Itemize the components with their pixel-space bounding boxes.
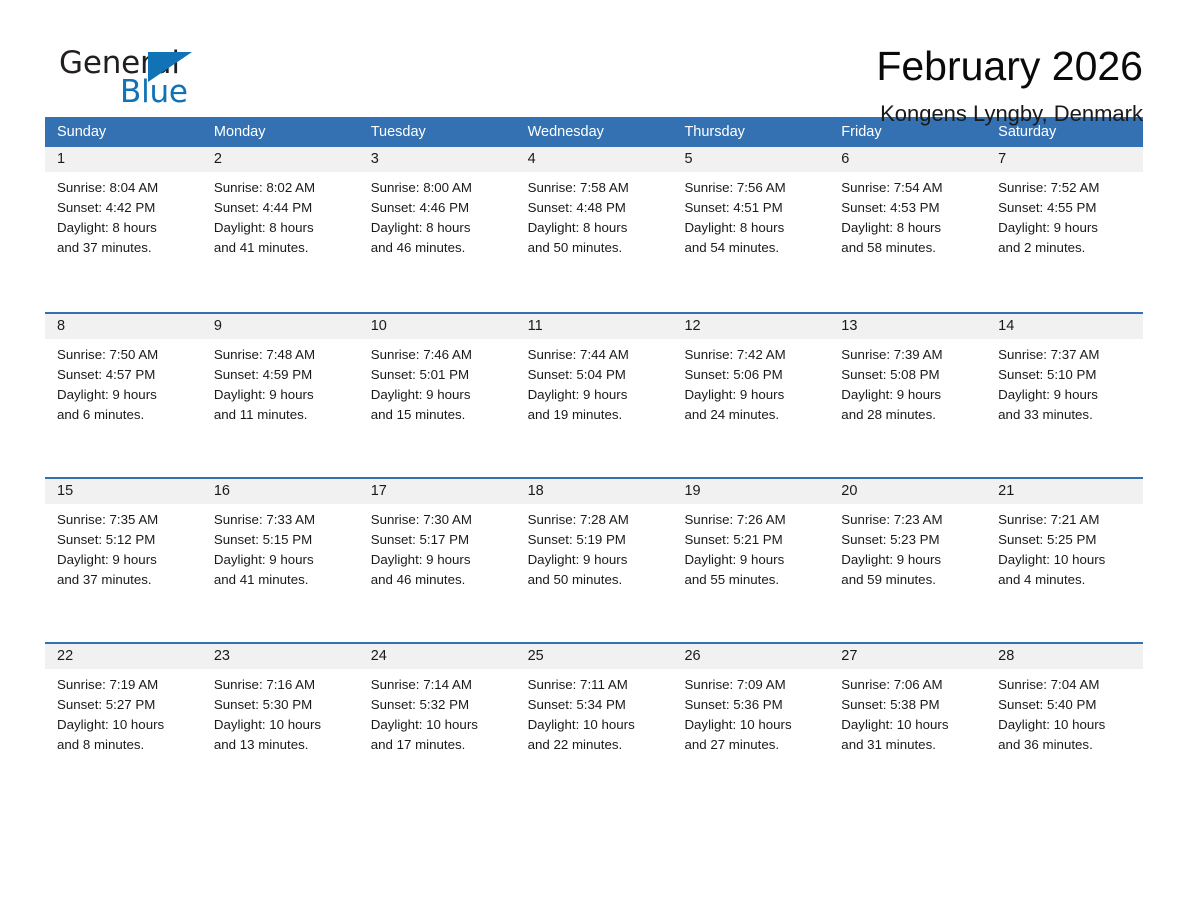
sunrise-text: Sunrise: 7:37 AM	[998, 345, 1135, 365]
daylight-text-line1: Daylight: 10 hours	[684, 715, 821, 735]
daylight-text-line2: and 50 minutes.	[528, 570, 665, 590]
day-number: 23	[202, 644, 359, 669]
calendar-week-row: 8 Sunrise: 7:50 AM Sunset: 4:57 PM Dayli…	[45, 312, 1143, 477]
calendar-day-cell[interactable]: 24 Sunrise: 7:14 AM Sunset: 5:32 PM Dayl…	[359, 644, 516, 807]
day-number-band: 14	[986, 314, 1143, 339]
sunrise-text: Sunrise: 7:26 AM	[684, 510, 821, 530]
calendar-week-row: 15 Sunrise: 7:35 AM Sunset: 5:12 PM Dayl…	[45, 477, 1143, 642]
calendar-day-cell[interactable]: 5 Sunrise: 7:56 AM Sunset: 4:51 PM Dayli…	[672, 147, 829, 312]
sunset-text: Sunset: 5:30 PM	[214, 695, 351, 715]
calendar-day-cell[interactable]: 14 Sunrise: 7:37 AM Sunset: 5:10 PM Dayl…	[986, 314, 1143, 477]
sunset-text: Sunset: 4:42 PM	[57, 198, 194, 218]
daylight-text-line2: and 15 minutes.	[371, 405, 508, 425]
sunrise-text: Sunrise: 7:52 AM	[998, 178, 1135, 198]
calendar-day-cell[interactable]: 2 Sunrise: 8:02 AM Sunset: 4:44 PM Dayli…	[202, 147, 359, 312]
sunrise-text: Sunrise: 7:44 AM	[528, 345, 665, 365]
day-number: 9	[202, 314, 359, 339]
daylight-text-line1: Daylight: 8 hours	[371, 218, 508, 238]
daylight-text-line1: Daylight: 8 hours	[684, 218, 821, 238]
day-details: Sunrise: 7:44 AM Sunset: 5:04 PM Dayligh…	[516, 339, 673, 425]
daylight-text-line2: and 37 minutes.	[57, 570, 194, 590]
day-number-band: 17	[359, 479, 516, 504]
daylight-text-line2: and 59 minutes.	[841, 570, 978, 590]
sunset-text: Sunset: 5:27 PM	[57, 695, 194, 715]
daylight-text-line1: Daylight: 9 hours	[57, 385, 194, 405]
day-number: 17	[359, 479, 516, 504]
day-number: 11	[516, 314, 673, 339]
day-number: 20	[829, 479, 986, 504]
day-details: Sunrise: 7:23 AM Sunset: 5:23 PM Dayligh…	[829, 504, 986, 590]
daylight-text-line1: Daylight: 8 hours	[841, 218, 978, 238]
generalblue-logo[interactable]: General Blue	[45, 42, 235, 114]
sunset-text: Sunset: 5:34 PM	[528, 695, 665, 715]
day-details: Sunrise: 8:00 AM Sunset: 4:46 PM Dayligh…	[359, 172, 516, 258]
daylight-text-line1: Daylight: 10 hours	[214, 715, 351, 735]
sunset-text: Sunset: 5:12 PM	[57, 530, 194, 550]
day-number: 25	[516, 644, 673, 669]
daylight-text-line2: and 4 minutes.	[998, 570, 1135, 590]
day-number-band: 26	[672, 644, 829, 669]
daylight-text-line2: and 28 minutes.	[841, 405, 978, 425]
day-number: 4	[516, 147, 673, 172]
day-number-band: 27	[829, 644, 986, 669]
day-details: Sunrise: 7:58 AM Sunset: 4:48 PM Dayligh…	[516, 172, 673, 258]
day-number: 27	[829, 644, 986, 669]
day-details: Sunrise: 7:30 AM Sunset: 5:17 PM Dayligh…	[359, 504, 516, 590]
daylight-text-line1: Daylight: 9 hours	[528, 550, 665, 570]
sunrise-text: Sunrise: 7:54 AM	[841, 178, 978, 198]
sunrise-text: Sunrise: 7:58 AM	[528, 178, 665, 198]
day-number-band: 7	[986, 147, 1143, 172]
sunset-text: Sunset: 4:48 PM	[528, 198, 665, 218]
sunrise-text: Sunrise: 7:30 AM	[371, 510, 508, 530]
day-details: Sunrise: 7:35 AM Sunset: 5:12 PM Dayligh…	[45, 504, 202, 590]
daylight-text-line2: and 36 minutes.	[998, 735, 1135, 755]
daylight-text-line1: Daylight: 9 hours	[57, 550, 194, 570]
day-number-band: 15	[45, 479, 202, 504]
daylight-text-line2: and 13 minutes.	[214, 735, 351, 755]
daylight-text-line1: Daylight: 10 hours	[371, 715, 508, 735]
calendar-day-cell[interactable]: 20 Sunrise: 7:23 AM Sunset: 5:23 PM Dayl…	[829, 479, 986, 642]
sunrise-text: Sunrise: 7:19 AM	[57, 675, 194, 695]
daylight-text-line1: Daylight: 8 hours	[528, 218, 665, 238]
calendar-day-cell[interactable]: 22 Sunrise: 7:19 AM Sunset: 5:27 PM Dayl…	[45, 644, 202, 807]
day-number: 2	[202, 147, 359, 172]
sunset-text: Sunset: 5:10 PM	[998, 365, 1135, 385]
weekday-header-friday: Friday	[829, 117, 986, 147]
calendar-day-cell[interactable]: 11 Sunrise: 7:44 AM Sunset: 5:04 PM Dayl…	[516, 314, 673, 477]
calendar-day-cell[interactable]: 25 Sunrise: 7:11 AM Sunset: 5:34 PM Dayl…	[516, 644, 673, 807]
day-number-band: 21	[986, 479, 1143, 504]
sunrise-text: Sunrise: 7:35 AM	[57, 510, 194, 530]
day-number-band: 5	[672, 147, 829, 172]
day-details: Sunrise: 7:26 AM Sunset: 5:21 PM Dayligh…	[672, 504, 829, 590]
calendar-day-cell[interactable]: 18 Sunrise: 7:28 AM Sunset: 5:19 PM Dayl…	[516, 479, 673, 642]
daylight-text-line1: Daylight: 8 hours	[57, 218, 194, 238]
day-number-band: 10	[359, 314, 516, 339]
sunrise-text: Sunrise: 7:16 AM	[214, 675, 351, 695]
day-number-band: 13	[829, 314, 986, 339]
daylight-text-line2: and 41 minutes.	[214, 238, 351, 258]
sunrise-text: Sunrise: 7:06 AM	[841, 675, 978, 695]
sunrise-text: Sunrise: 7:46 AM	[371, 345, 508, 365]
day-details: Sunrise: 7:16 AM Sunset: 5:30 PM Dayligh…	[202, 669, 359, 755]
daylight-text-line2: and 55 minutes.	[684, 570, 821, 590]
calendar-day-cell[interactable]: 19 Sunrise: 7:26 AM Sunset: 5:21 PM Dayl…	[672, 479, 829, 642]
day-number-band: 2	[202, 147, 359, 172]
daylight-text-line2: and 46 minutes.	[371, 238, 508, 258]
day-number: 24	[359, 644, 516, 669]
day-number-band: 28	[986, 644, 1143, 669]
weekday-header-wednesday: Wednesday	[516, 117, 673, 147]
sunrise-text: Sunrise: 8:00 AM	[371, 178, 508, 198]
day-number-band: 12	[672, 314, 829, 339]
day-number-band: 9	[202, 314, 359, 339]
daylight-text-line1: Daylight: 9 hours	[841, 550, 978, 570]
day-number: 3	[359, 147, 516, 172]
daylight-text-line2: and 46 minutes.	[371, 570, 508, 590]
day-number-band: 18	[516, 479, 673, 504]
day-number: 15	[45, 479, 202, 504]
day-details: Sunrise: 7:46 AM Sunset: 5:01 PM Dayligh…	[359, 339, 516, 425]
sunrise-text: Sunrise: 7:23 AM	[841, 510, 978, 530]
sunrise-text: Sunrise: 7:21 AM	[998, 510, 1135, 530]
calendar-day-cell[interactable]: 26 Sunrise: 7:09 AM Sunset: 5:36 PM Dayl…	[672, 644, 829, 807]
calendar-day-cell[interactable]: 1 Sunrise: 8:04 AM Sunset: 4:42 PM Dayli…	[45, 147, 202, 312]
daylight-text-line2: and 22 minutes.	[528, 735, 665, 755]
sunrise-text: Sunrise: 8:04 AM	[57, 178, 194, 198]
day-details: Sunrise: 7:04 AM Sunset: 5:40 PM Dayligh…	[986, 669, 1143, 755]
day-number-band: 23	[202, 644, 359, 669]
sunset-text: Sunset: 4:59 PM	[214, 365, 351, 385]
daylight-text-line1: Daylight: 9 hours	[684, 550, 821, 570]
calendar-page: General Blue February 2026 Kongens Lyngb…	[0, 0, 1188, 918]
day-number-band: 3	[359, 147, 516, 172]
daylight-text-line1: Daylight: 10 hours	[528, 715, 665, 735]
day-details: Sunrise: 7:21 AM Sunset: 5:25 PM Dayligh…	[986, 504, 1143, 590]
calendar-day-cell[interactable]: 9 Sunrise: 7:48 AM Sunset: 4:59 PM Dayli…	[202, 314, 359, 477]
day-details: Sunrise: 8:02 AM Sunset: 4:44 PM Dayligh…	[202, 172, 359, 258]
daylight-text-line1: Daylight: 8 hours	[214, 218, 351, 238]
day-number-band: 11	[516, 314, 673, 339]
calendar-day-cell[interactable]: 28 Sunrise: 7:04 AM Sunset: 5:40 PM Dayl…	[986, 644, 1143, 807]
weekday-header-saturday: Saturday	[986, 117, 1143, 147]
sunset-text: Sunset: 5:40 PM	[998, 695, 1135, 715]
sunset-text: Sunset: 5:19 PM	[528, 530, 665, 550]
sunset-text: Sunset: 5:32 PM	[371, 695, 508, 715]
day-number-band: 24	[359, 644, 516, 669]
sunset-text: Sunset: 5:25 PM	[998, 530, 1135, 550]
calendar-day-cell[interactable]: 16 Sunrise: 7:33 AM Sunset: 5:15 PM Dayl…	[202, 479, 359, 642]
daylight-text-line1: Daylight: 10 hours	[841, 715, 978, 735]
sunset-text: Sunset: 5:01 PM	[371, 365, 508, 385]
daylight-text-line1: Daylight: 9 hours	[841, 385, 978, 405]
daylight-text-line1: Daylight: 9 hours	[214, 385, 351, 405]
daylight-text-line2: and 11 minutes.	[214, 405, 351, 425]
day-details: Sunrise: 7:09 AM Sunset: 5:36 PM Dayligh…	[672, 669, 829, 755]
day-details: Sunrise: 7:33 AM Sunset: 5:15 PM Dayligh…	[202, 504, 359, 590]
sunset-text: Sunset: 5:23 PM	[841, 530, 978, 550]
day-number-band: 16	[202, 479, 359, 504]
day-details: Sunrise: 7:50 AM Sunset: 4:57 PM Dayligh…	[45, 339, 202, 425]
day-number-band: 22	[45, 644, 202, 669]
weekday-header-thursday: Thursday	[672, 117, 829, 147]
sunset-text: Sunset: 5:21 PM	[684, 530, 821, 550]
weekday-header-sunday: Sunday	[45, 117, 202, 147]
daylight-text-line1: Daylight: 9 hours	[528, 385, 665, 405]
calendar-day-cell[interactable]: 4 Sunrise: 7:58 AM Sunset: 4:48 PM Dayli…	[516, 147, 673, 312]
daylight-text-line1: Daylight: 9 hours	[998, 218, 1135, 238]
sunrise-text: Sunrise: 7:39 AM	[841, 345, 978, 365]
day-number: 1	[45, 147, 202, 172]
sunset-text: Sunset: 4:57 PM	[57, 365, 194, 385]
sunset-text: Sunset: 4:51 PM	[684, 198, 821, 218]
sunset-text: Sunset: 4:55 PM	[998, 198, 1135, 218]
sunrise-text: Sunrise: 7:11 AM	[528, 675, 665, 695]
title-block: February 2026 Kongens Lyngby, Denmark	[235, 42, 1143, 128]
sunrise-text: Sunrise: 7:56 AM	[684, 178, 821, 198]
logo-text-blue: Blue	[120, 75, 188, 109]
day-details: Sunrise: 7:28 AM Sunset: 5:19 PM Dayligh…	[516, 504, 673, 590]
daylight-text-line2: and 27 minutes.	[684, 735, 821, 755]
calendar-day-cell[interactable]: 10 Sunrise: 7:46 AM Sunset: 5:01 PM Dayl…	[359, 314, 516, 477]
sunset-text: Sunset: 4:53 PM	[841, 198, 978, 218]
day-number: 26	[672, 644, 829, 669]
day-number-band: 6	[829, 147, 986, 172]
calendar-day-cell[interactable]: 12 Sunrise: 7:42 AM Sunset: 5:06 PM Dayl…	[672, 314, 829, 477]
daylight-text-line1: Daylight: 10 hours	[998, 550, 1135, 570]
day-number: 12	[672, 314, 829, 339]
sunrise-text: Sunrise: 7:48 AM	[214, 345, 351, 365]
day-details: Sunrise: 7:19 AM Sunset: 5:27 PM Dayligh…	[45, 669, 202, 755]
page-header: General Blue February 2026 Kongens Lyngb…	[45, 0, 1143, 104]
calendar-week-row: 1 Sunrise: 8:04 AM Sunset: 4:42 PM Dayli…	[45, 147, 1143, 312]
calendar-day-cell[interactable]: 15 Sunrise: 7:35 AM Sunset: 5:12 PM Dayl…	[45, 479, 202, 642]
day-number: 16	[202, 479, 359, 504]
calendar-day-cell[interactable]: 27 Sunrise: 7:06 AM Sunset: 5:38 PM Dayl…	[829, 644, 986, 807]
day-number-band: 19	[672, 479, 829, 504]
daylight-text-line1: Daylight: 9 hours	[998, 385, 1135, 405]
calendar-day-cell[interactable]: 6 Sunrise: 7:54 AM Sunset: 4:53 PM Dayli…	[829, 147, 986, 312]
sunrise-text: Sunrise: 7:28 AM	[528, 510, 665, 530]
day-number: 10	[359, 314, 516, 339]
daylight-text-line2: and 41 minutes.	[214, 570, 351, 590]
day-details: Sunrise: 7:52 AM Sunset: 4:55 PM Dayligh…	[986, 172, 1143, 258]
calendar-day-cell[interactable]: 17 Sunrise: 7:30 AM Sunset: 5:17 PM Dayl…	[359, 479, 516, 642]
sunset-text: Sunset: 5:38 PM	[841, 695, 978, 715]
sunset-text: Sunset: 5:36 PM	[684, 695, 821, 715]
sunrise-text: Sunrise: 7:42 AM	[684, 345, 821, 365]
sunset-text: Sunset: 4:46 PM	[371, 198, 508, 218]
calendar-day-cell[interactable]: 7 Sunrise: 7:52 AM Sunset: 4:55 PM Dayli…	[986, 147, 1143, 312]
daylight-text-line2: and 24 minutes.	[684, 405, 821, 425]
daylight-text-line1: Daylight: 9 hours	[214, 550, 351, 570]
day-number: 22	[45, 644, 202, 669]
day-details: Sunrise: 7:11 AM Sunset: 5:34 PM Dayligh…	[516, 669, 673, 755]
day-details: Sunrise: 7:54 AM Sunset: 4:53 PM Dayligh…	[829, 172, 986, 258]
day-details: Sunrise: 7:48 AM Sunset: 4:59 PM Dayligh…	[202, 339, 359, 425]
day-number: 28	[986, 644, 1143, 669]
day-details: Sunrise: 7:06 AM Sunset: 5:38 PM Dayligh…	[829, 669, 986, 755]
daylight-text-line2: and 37 minutes.	[57, 238, 194, 258]
daylight-text-line2: and 33 minutes.	[998, 405, 1135, 425]
sunset-text: Sunset: 5:17 PM	[371, 530, 508, 550]
daylight-text-line2: and 50 minutes.	[528, 238, 665, 258]
day-details: Sunrise: 7:14 AM Sunset: 5:32 PM Dayligh…	[359, 669, 516, 755]
day-details: Sunrise: 7:42 AM Sunset: 5:06 PM Dayligh…	[672, 339, 829, 425]
sunrise-text: Sunrise: 7:14 AM	[371, 675, 508, 695]
weekday-header-tuesday: Tuesday	[359, 117, 516, 147]
daylight-text-line2: and 17 minutes.	[371, 735, 508, 755]
day-number-band: 1	[45, 147, 202, 172]
calendar-day-cell[interactable]: 21 Sunrise: 7:21 AM Sunset: 5:25 PM Dayl…	[986, 479, 1143, 642]
sunrise-text: Sunrise: 7:09 AM	[684, 675, 821, 695]
sunrise-text: Sunrise: 8:02 AM	[214, 178, 351, 198]
day-number: 7	[986, 147, 1143, 172]
sunset-text: Sunset: 5:06 PM	[684, 365, 821, 385]
day-number: 13	[829, 314, 986, 339]
day-details: Sunrise: 7:39 AM Sunset: 5:08 PM Dayligh…	[829, 339, 986, 425]
day-number: 21	[986, 479, 1143, 504]
sunrise-text: Sunrise: 7:50 AM	[57, 345, 194, 365]
page-title: February 2026	[235, 42, 1143, 90]
daylight-text-line1: Daylight: 10 hours	[998, 715, 1135, 735]
daylight-text-line1: Daylight: 10 hours	[57, 715, 194, 735]
calendar-day-cell[interactable]: 23 Sunrise: 7:16 AM Sunset: 5:30 PM Dayl…	[202, 644, 359, 807]
calendar-day-cell[interactable]: 13 Sunrise: 7:39 AM Sunset: 5:08 PM Dayl…	[829, 314, 986, 477]
sunset-text: Sunset: 5:15 PM	[214, 530, 351, 550]
daylight-text-line2: and 31 minutes.	[841, 735, 978, 755]
day-number-band: 8	[45, 314, 202, 339]
daylight-text-line2: and 2 minutes.	[998, 238, 1135, 258]
day-details: Sunrise: 7:56 AM Sunset: 4:51 PM Dayligh…	[672, 172, 829, 258]
calendar-day-cell[interactable]: 8 Sunrise: 7:50 AM Sunset: 4:57 PM Dayli…	[45, 314, 202, 477]
day-number-band: 20	[829, 479, 986, 504]
daylight-text-line1: Daylight: 9 hours	[371, 550, 508, 570]
day-number: 5	[672, 147, 829, 172]
daylight-text-line1: Daylight: 9 hours	[371, 385, 508, 405]
daylight-text-line2: and 19 minutes.	[528, 405, 665, 425]
daylight-text-line2: and 58 minutes.	[841, 238, 978, 258]
day-number-band: 25	[516, 644, 673, 669]
day-number: 14	[986, 314, 1143, 339]
day-number: 8	[45, 314, 202, 339]
sunset-text: Sunset: 5:08 PM	[841, 365, 978, 385]
calendar-day-cell[interactable]: 3 Sunrise: 8:00 AM Sunset: 4:46 PM Dayli…	[359, 147, 516, 312]
calendar-week-row: 22 Sunrise: 7:19 AM Sunset: 5:27 PM Dayl…	[45, 642, 1143, 807]
daylight-text-line1: Daylight: 9 hours	[684, 385, 821, 405]
sunset-text: Sunset: 4:44 PM	[214, 198, 351, 218]
day-number: 18	[516, 479, 673, 504]
sunset-text: Sunset: 5:04 PM	[528, 365, 665, 385]
weekday-header-row: Sunday Monday Tuesday Wednesday Thursday…	[45, 117, 1143, 147]
sunrise-text: Sunrise: 7:04 AM	[998, 675, 1135, 695]
daylight-text-line2: and 8 minutes.	[57, 735, 194, 755]
daylight-text-line2: and 54 minutes.	[684, 238, 821, 258]
day-number: 6	[829, 147, 986, 172]
weekday-header-monday: Monday	[202, 117, 359, 147]
day-details: Sunrise: 8:04 AM Sunset: 4:42 PM Dayligh…	[45, 172, 202, 258]
day-number-band: 4	[516, 147, 673, 172]
day-number: 19	[672, 479, 829, 504]
day-details: Sunrise: 7:37 AM Sunset: 5:10 PM Dayligh…	[986, 339, 1143, 425]
daylight-text-line2: and 6 minutes.	[57, 405, 194, 425]
calendar-grid: Sunday Monday Tuesday Wednesday Thursday…	[45, 117, 1143, 807]
sunrise-text: Sunrise: 7:33 AM	[214, 510, 351, 530]
